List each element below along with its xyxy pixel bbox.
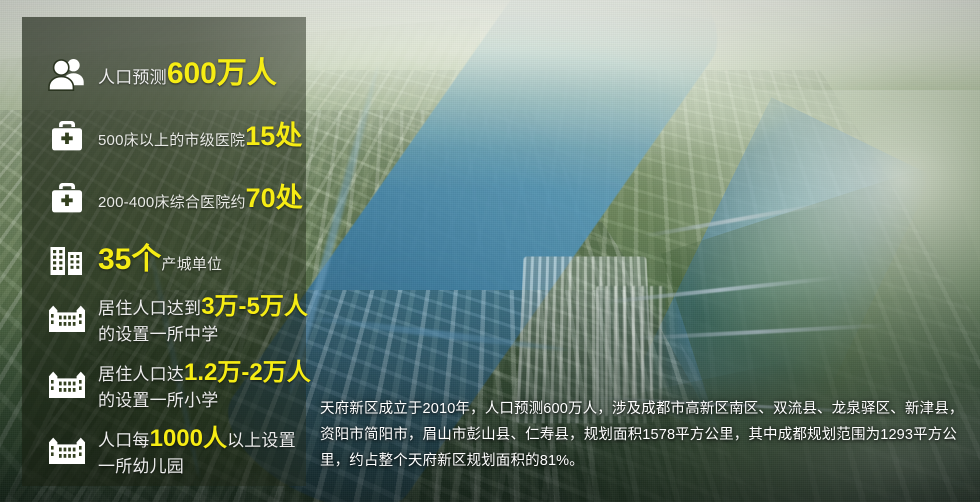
school-building-icon (44, 361, 90, 407)
stat-row: 35个产城单位 (22, 229, 306, 291)
stat-label: 居住人口达到 (98, 299, 201, 318)
stat-label: 人口预测 (98, 68, 167, 87)
stat-line: 人口预测600万人 (98, 59, 277, 89)
stat-line: 人口每1000人以上设置 (98, 427, 296, 451)
users-icon (44, 51, 90, 97)
stat-label: 产城单位 (161, 256, 222, 273)
stat-row: 人口每1000人以上设置一所幼儿园 (22, 423, 306, 489)
statistics-panel: 人口预测600万人500床以上的市级医院15处200-400床综合医院约70处3… (22, 17, 306, 486)
stat-line: 35个产城单位 (98, 245, 222, 275)
stat-value-highlight: 15处 (245, 121, 302, 151)
stat-row: 500床以上的市级医院15处 (22, 105, 306, 167)
school-building-icon (44, 295, 90, 341)
region-description-paragraph: 天府新区成立于2010年，人口预测600万人，涉及成都市高新区南区、双流县、龙泉… (320, 396, 968, 474)
stat-text: 人口每1000人以上设置一所幼儿园 (98, 427, 296, 476)
stat-text: 500床以上的市级医院15处 (98, 123, 302, 150)
stat-label: 200-400床综合医院约 (98, 194, 246, 211)
stat-label: 以上设置 (227, 431, 296, 450)
stat-row: 居住人口达1.2万-2万人的设置一所小学 (22, 357, 306, 423)
stat-label: 人口每 (98, 431, 150, 450)
stat-value-highlight: 35个 (98, 243, 161, 276)
school-building-icon (44, 427, 90, 473)
stat-value-highlight: 70处 (246, 183, 303, 213)
office-buildings-icon (44, 237, 90, 283)
stat-row: 人口预测600万人 (22, 43, 306, 105)
stat-label: 的设置一所小学 (98, 391, 218, 410)
stat-value-highlight: 1.2万-2万人 (184, 359, 311, 386)
stat-row: 200-400床综合医院约70处 (22, 167, 306, 229)
stat-line: 的设置一所小学 (98, 392, 311, 410)
stat-line: 一所幼儿园 (98, 458, 296, 476)
stat-line: 居住人口达1.2万-2万人 (98, 361, 311, 385)
stat-line: 200-400床综合医院约70处 (98, 185, 303, 212)
stat-label: 居住人口达 (98, 365, 184, 384)
description-line-2: 资阳市简阳市，眉山市彭山县、仁寿县，规划面积1578平方公里，其中成都规划范围为… (320, 422, 968, 448)
stat-value-highlight: 600万人 (167, 57, 277, 90)
stat-label: 500床以上的市级医院 (98, 132, 245, 149)
stat-line: 的设置一所中学 (98, 326, 308, 344)
stat-label: 一所幼儿园 (98, 457, 184, 476)
stat-text: 人口预测600万人 (98, 59, 277, 89)
description-line-1: 天府新区成立于2010年，人口预测600万人，涉及成都市高新区南区、双流县、龙泉… (320, 396, 968, 422)
stat-text: 居住人口达1.2万-2万人的设置一所小学 (98, 361, 311, 410)
screenshot-root: 人口预测600万人500床以上的市级医院15处200-400床综合医院约70处3… (0, 0, 980, 502)
stat-line: 500床以上的市级医院15处 (98, 123, 302, 150)
medical-kit-icon (44, 113, 90, 159)
stat-line: 居住人口达到3万-5万人 (98, 295, 308, 319)
stat-value-highlight: 1000人 (150, 425, 227, 452)
stat-text: 35个产城单位 (98, 245, 222, 275)
stat-row: 居住人口达到3万-5万人的设置一所中学 (22, 291, 306, 357)
description-line-3: 里，约占整个天府新区规划面积的81%。 (320, 448, 968, 474)
stat-value-highlight: 3万-5万人 (201, 293, 308, 320)
stat-label: 的设置一所中学 (98, 325, 218, 344)
stat-text: 居住人口达到3万-5万人的设置一所中学 (98, 295, 308, 344)
stat-text: 200-400床综合医院约70处 (98, 185, 303, 212)
medical-kit-icon (44, 175, 90, 221)
